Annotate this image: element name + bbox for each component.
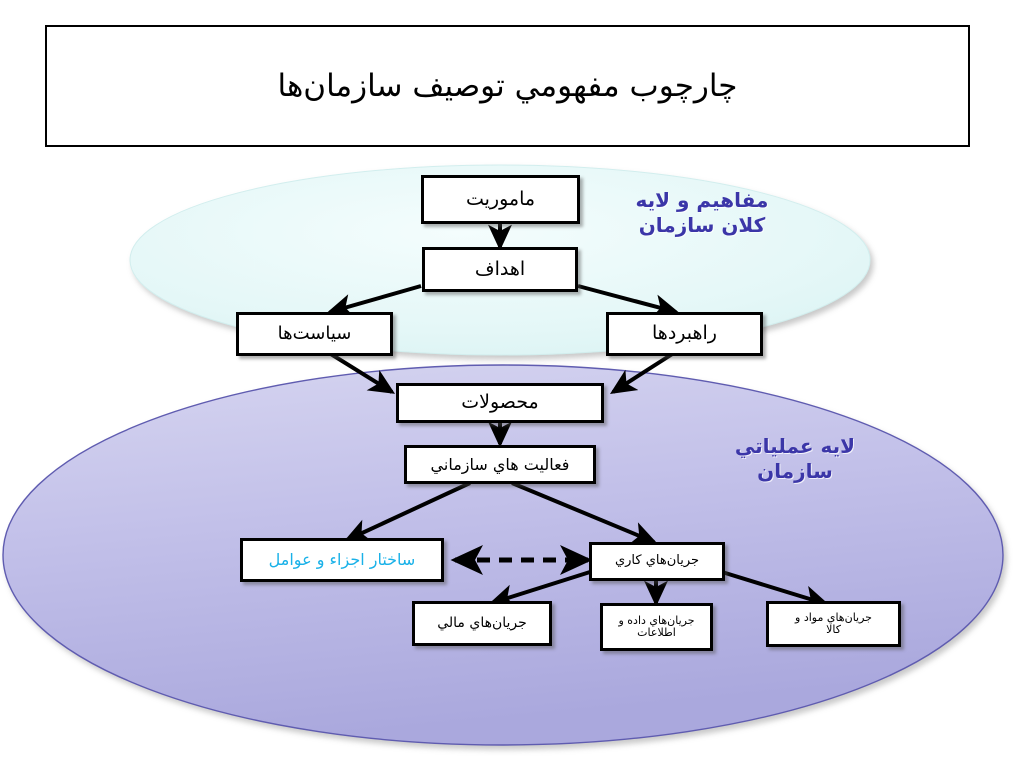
node-workflows[interactable]: جريان‌هاي كاري xyxy=(589,542,725,581)
node-workflows-label: جريان‌هاي كاري xyxy=(611,554,703,569)
node-policies-label: سياست‌ها xyxy=(274,324,356,344)
node-strategies[interactable]: راهبردها xyxy=(606,312,763,356)
node-structure-label: ساختار اجزاء و عوامل xyxy=(265,551,420,569)
diagram-canvas: چارچوب مفهومي توصيف سازمان‌ها xyxy=(0,0,1018,758)
node-financial-flows[interactable]: جريان‌هاي مالي xyxy=(412,601,552,646)
node-activities[interactable]: فعاليت هاي سازماني xyxy=(404,445,596,484)
node-information-flows-label: جريان‌هاي داده و اطلاعات xyxy=(614,615,698,640)
layer-label-operational: لايه عملياتي سازمان xyxy=(700,434,890,484)
node-policies[interactable]: سياست‌ها xyxy=(236,312,393,356)
node-strategies-label: راهبردها xyxy=(648,323,721,344)
layer-label-macro: مفاهيم و لايه كلان سازمان xyxy=(612,188,792,238)
node-products-label: محصولات xyxy=(457,392,542,413)
node-mission[interactable]: ماموريت xyxy=(421,175,580,224)
node-material-flows[interactable]: جريان‌هاي مواد و كالا xyxy=(766,601,901,647)
node-information-flows[interactable]: جريان‌هاي داده و اطلاعات xyxy=(600,603,713,651)
node-products[interactable]: محصولات xyxy=(396,383,604,423)
node-material-flows-label: جريان‌هاي مواد و كالا xyxy=(791,612,876,637)
node-structure[interactable]: ساختار اجزاء و عوامل xyxy=(240,538,444,582)
node-goals[interactable]: اهداف xyxy=(422,247,578,292)
node-activities-label: فعاليت هاي سازماني xyxy=(427,456,574,474)
node-financial-flows-label: جريان‌هاي مالي xyxy=(433,616,531,632)
node-goals-label: اهداف xyxy=(471,259,529,280)
node-mission-label: ماموريت xyxy=(462,189,539,210)
